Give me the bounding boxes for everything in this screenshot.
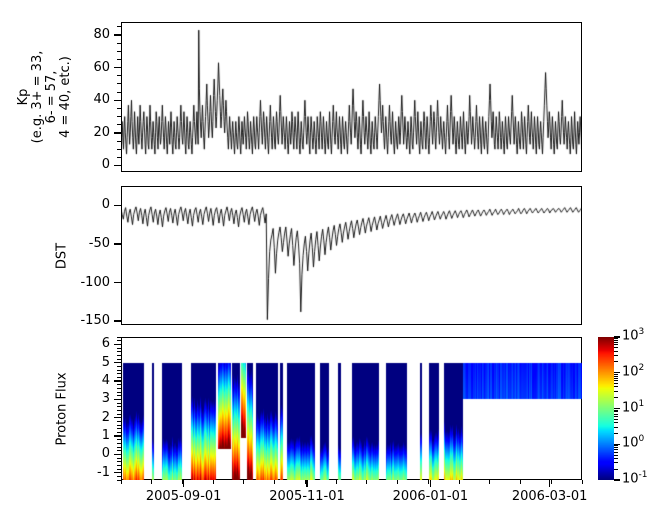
y-minor-tick [117, 432, 121, 433]
colorbar-minor-tick [614, 419, 618, 420]
colorbar-minor-tick [614, 340, 618, 341]
colorbar-minor-tick [614, 469, 618, 470]
x-minor-tick [397, 480, 398, 484]
dst-axis-label: DST [55, 186, 69, 325]
figure-canvas: 020406080 Kp (e.g. 3+ = 33, 6- = 57, 4 =… [0, 0, 665, 523]
y-minor-tick [117, 359, 121, 360]
y-minor-tick [117, 348, 121, 349]
y-minor-tick [117, 421, 121, 422]
x-minor-tick [121, 480, 122, 484]
y-minor-tick [117, 116, 121, 117]
colorbar-minor-tick [614, 374, 618, 375]
colorbar-minor-tick [614, 455, 618, 456]
colorbar-minor-tick [614, 355, 618, 356]
proton-flux-axis-label: Proton Flux [55, 337, 69, 480]
x-minor-tick [274, 480, 275, 484]
x-tick-label: 2005-11-01 [262, 489, 352, 504]
y-major-tick [114, 282, 121, 283]
colorbar-minor-tick [614, 422, 618, 423]
colorbar-minor-tick [614, 414, 618, 415]
colorbar-minor-tick [614, 344, 618, 345]
x-tick-label: 2006-03-01 [505, 489, 595, 504]
y-minor-tick [117, 461, 121, 462]
colorbar-minor-tick [614, 386, 618, 387]
colorbar-minor-tick [614, 342, 618, 343]
x-minor-tick [582, 480, 583, 484]
colorbar-major-tick [614, 479, 620, 480]
y-minor-tick [117, 366, 121, 367]
y-major-tick [114, 243, 121, 244]
y-minor-tick [117, 377, 121, 378]
y-minor-tick [117, 43, 121, 44]
y-minor-tick [117, 388, 121, 389]
colorbar-minor-tick [614, 416, 618, 417]
y-minor-tick [117, 373, 121, 374]
colorbar-tick-label: 103 [622, 327, 644, 343]
y-major-tick [114, 399, 121, 400]
y-major-tick [114, 472, 121, 473]
colorbar-minor-tick [614, 449, 618, 450]
y-minor-tick [117, 124, 121, 125]
y-minor-tick [117, 410, 121, 411]
y-minor-tick [117, 157, 121, 158]
y-minor-tick [117, 392, 121, 393]
colorbar-minor-tick [614, 361, 618, 362]
y-minor-tick [117, 406, 121, 407]
colorbar-tick-label: 101 [622, 399, 644, 415]
y-major-tick [114, 165, 121, 166]
x-minor-tick [459, 480, 460, 484]
y-major-tick [114, 100, 121, 101]
colorbar-tick-label: 10-1 [622, 470, 648, 486]
y-minor-tick [117, 450, 121, 451]
dst-timeseries-plot [121, 186, 582, 325]
y-minor-tick [117, 26, 121, 27]
y-minor-tick [117, 355, 121, 356]
colorbar-tick-label: 102 [622, 363, 644, 379]
y-minor-tick [117, 75, 121, 76]
y-major-tick [114, 34, 121, 35]
proton-flux-spectrogram [121, 337, 582, 480]
colorbar-minor-tick [614, 462, 618, 463]
colorbar-minor-tick [614, 445, 618, 446]
y-minor-tick [117, 337, 121, 338]
y-minor-tick [117, 469, 121, 470]
y-major-tick [114, 320, 121, 321]
x-minor-tick [366, 480, 367, 484]
y-major-tick [114, 362, 121, 363]
colorbar-minor-tick [614, 447, 618, 448]
kp-axis-label: Kp (e.g. 3+ = 33, 6- = 57, 4 = 40, etc.) [17, 22, 73, 172]
x-major-tick [306, 480, 307, 487]
colorbar-minor-tick [614, 376, 618, 377]
x-minor-tick [182, 480, 183, 484]
colorbar-minor-tick [614, 433, 618, 434]
x-minor-tick [551, 480, 552, 484]
y-minor-tick [117, 108, 121, 109]
kp-timeseries-plot [121, 22, 582, 172]
x-minor-tick [520, 480, 521, 484]
colorbar-minor-tick [614, 452, 618, 453]
y-minor-tick [117, 370, 121, 371]
y-major-tick [114, 435, 121, 436]
y-minor-tick [117, 428, 121, 429]
x-minor-tick [213, 480, 214, 484]
y-major-tick [114, 132, 121, 133]
colorbar-minor-tick [614, 383, 618, 384]
y-minor-tick [117, 476, 121, 477]
x-minor-tick [151, 480, 152, 484]
y-minor-tick [117, 443, 121, 444]
y-major-tick [114, 344, 121, 345]
x-minor-tick [243, 480, 244, 484]
y-minor-tick [117, 465, 121, 466]
y-minor-tick [117, 384, 121, 385]
y-minor-tick [117, 340, 121, 341]
x-minor-tick [305, 480, 306, 484]
colorbar-minor-tick [614, 378, 618, 379]
y-major-tick [114, 380, 121, 381]
x-tick-label: 2005-09-01 [139, 489, 229, 504]
colorbar-minor-tick [614, 458, 618, 459]
y-minor-tick [117, 447, 121, 448]
colorbar-minor-tick [614, 347, 618, 348]
y-minor-tick [117, 395, 121, 396]
y-major-tick [114, 454, 121, 455]
y-minor-tick [117, 83, 121, 84]
x-minor-tick [336, 480, 337, 484]
y-minor-tick [117, 59, 121, 60]
colorbar-minor-tick [614, 351, 618, 352]
colorbar-minor-tick [614, 427, 618, 428]
y-minor-tick [117, 92, 121, 93]
y-minor-tick [117, 414, 121, 415]
colorbar-minor-tick [614, 380, 618, 381]
y-minor-tick [117, 351, 121, 352]
y-minor-tick [117, 403, 121, 404]
colorbar-tick-label: 100 [622, 434, 644, 450]
colorbar-minor-tick [614, 410, 618, 411]
y-major-tick [114, 417, 121, 418]
colorbar-minor-tick [614, 397, 618, 398]
y-minor-tick [117, 141, 121, 142]
colorbar-gradient [598, 337, 614, 480]
y-minor-tick [117, 439, 121, 440]
colorbar-minor-tick [614, 391, 618, 392]
colorbar-minor-tick [614, 411, 618, 412]
y-minor-tick [117, 149, 121, 150]
y-major-tick [114, 67, 121, 68]
x-major-tick [183, 480, 184, 487]
y-minor-tick [117, 458, 121, 459]
y-minor-tick [117, 51, 121, 52]
y-minor-tick [117, 425, 121, 426]
x-minor-tick [428, 480, 429, 484]
colorbar-minor-tick [614, 338, 618, 339]
x-tick-label: 2006-01-01 [385, 489, 475, 504]
x-minor-tick [489, 480, 490, 484]
y-major-tick [114, 205, 121, 206]
x-major-tick [430, 480, 431, 487]
